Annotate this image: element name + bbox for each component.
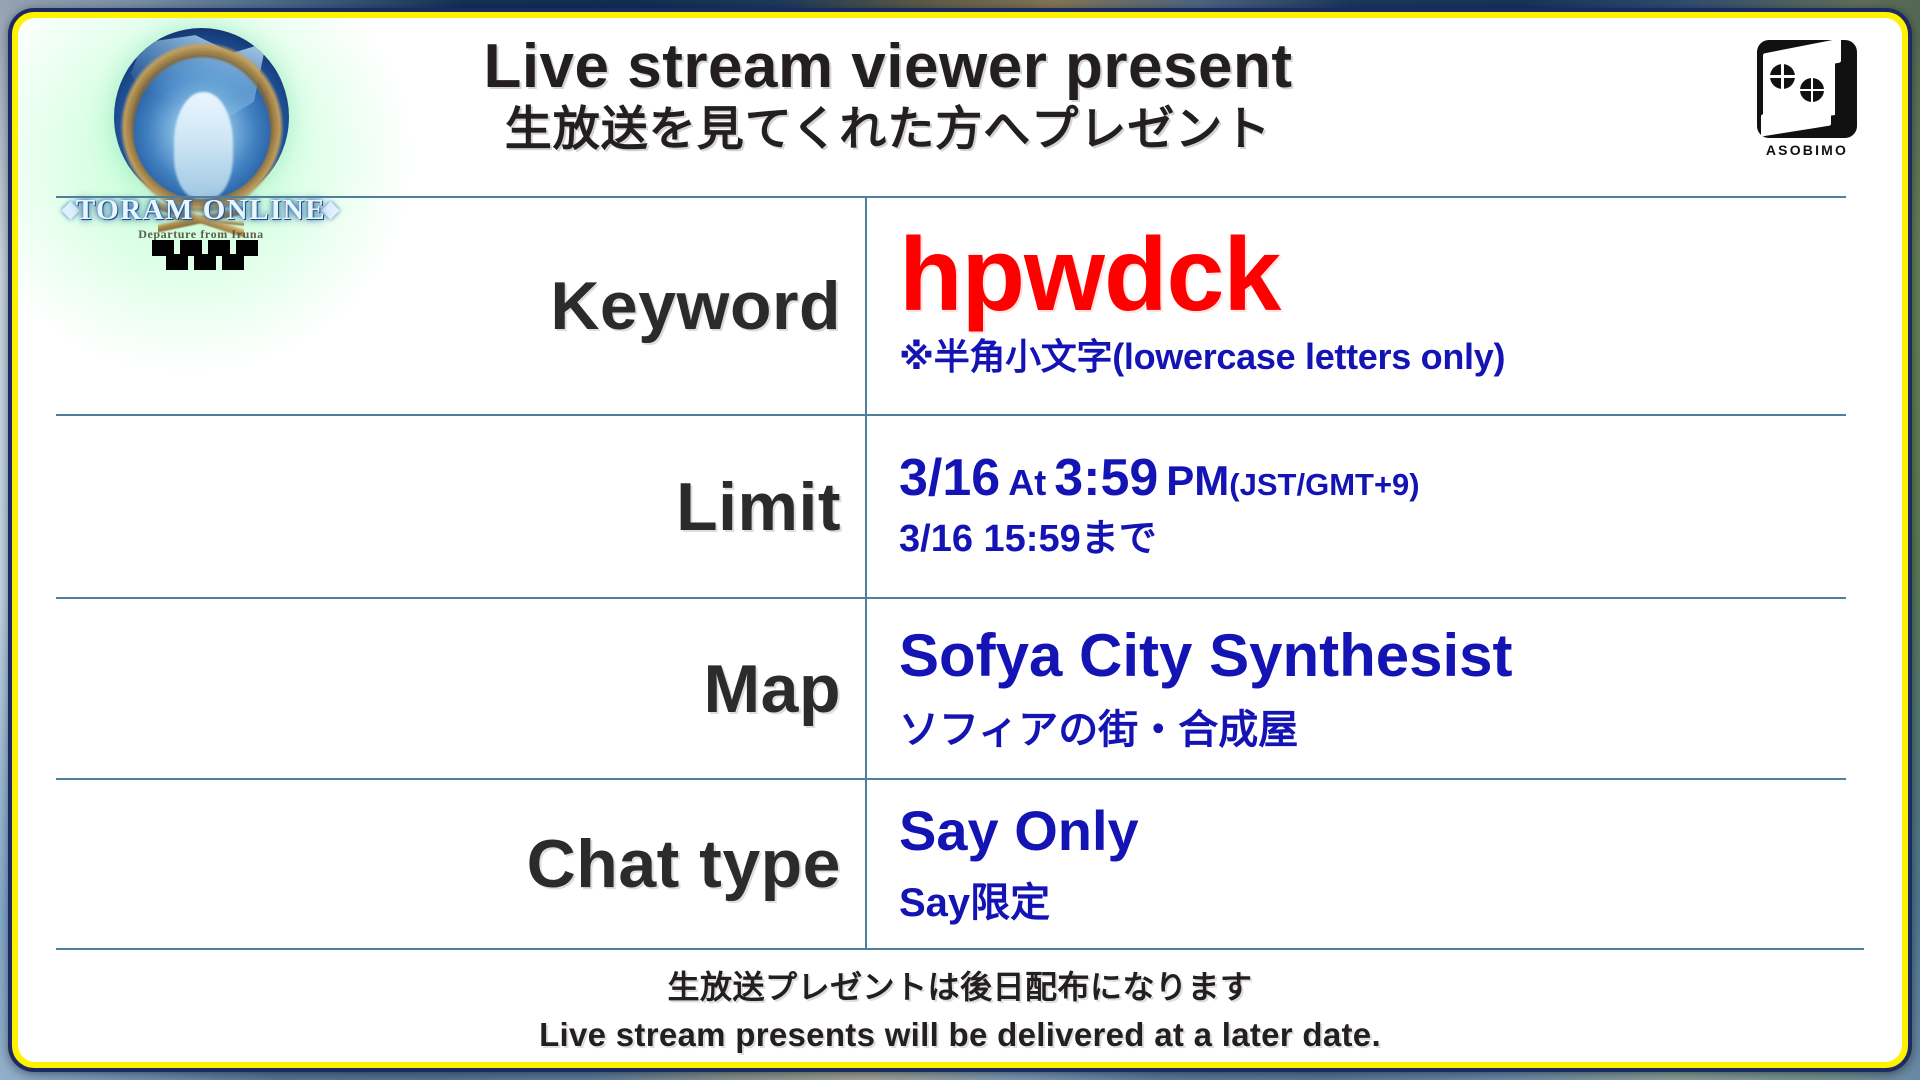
header: Live stream viewer present 生放送を見てくれた方へプレ… bbox=[18, 18, 1902, 196]
row-label-keyword: Keyword bbox=[550, 267, 841, 345]
limit-at: At bbox=[1000, 462, 1054, 503]
row-value-cell: Say Only Say限定 bbox=[867, 780, 1846, 948]
footer-note: 生放送プレゼントは後日配布になります Live stream presents … bbox=[56, 948, 1864, 1054]
chat-type-value-ja: Say限定 bbox=[899, 870, 1846, 928]
limit-timezone: (JST/GMT+9) bbox=[1229, 467, 1419, 502]
row-label-cell: Chat type bbox=[56, 780, 867, 948]
row-label-cell: Map bbox=[56, 599, 867, 778]
limit-meridiem: PM bbox=[1158, 457, 1229, 504]
row-label-limit: Limit bbox=[676, 468, 841, 546]
keyword-note: ※半角小文字(lowercase letters only) bbox=[899, 328, 1846, 380]
row-label-map: Map bbox=[704, 650, 842, 728]
footer-note-en: Live stream presents will be delivered a… bbox=[56, 1016, 1864, 1054]
keyword-value: hpwdck bbox=[899, 226, 1846, 325]
announcement-card: TORAM ONLINE Departure from Iruna Live s… bbox=[8, 8, 1912, 1072]
card-yellow-border: TORAM ONLINE Departure from Iruna Live s… bbox=[12, 12, 1908, 1068]
page-title-en: Live stream viewer present bbox=[348, 34, 1428, 101]
row-label-cell: Limit bbox=[56, 416, 867, 597]
limit-time: 3:59 bbox=[1054, 449, 1158, 507]
title-block: Live stream viewer present 生放送を見てくれた方へプレ… bbox=[348, 34, 1428, 155]
row-value-cell: Sofya City Synthesist ソフィアの街・合成屋 bbox=[867, 599, 1846, 778]
page-title-ja: 生放送を見てくれた方へプレゼント bbox=[348, 103, 1428, 155]
footer-note-ja: 生放送プレゼントは後日配布になります bbox=[56, 962, 1864, 1008]
asobimo-crosshair-icon bbox=[1800, 78, 1824, 102]
table-row-map: Map Sofya City Synthesist ソフィアの街・合成屋 bbox=[56, 597, 1846, 778]
table-row-limit: Limit 3/16At3:59PM(JST/GMT+9) 3/16 15:59… bbox=[56, 414, 1846, 597]
chat-type-value-en: Say Only bbox=[899, 800, 1846, 862]
table-row-chat-type: Chat type Say Only Say限定 bbox=[56, 778, 1846, 948]
map-value-ja: ソフィアの街・合成屋 bbox=[899, 697, 1846, 755]
asobimo-logo: ASOBIMO bbox=[1748, 40, 1866, 168]
row-label-cell: Keyword bbox=[56, 198, 867, 414]
card-surface: TORAM ONLINE Departure from Iruna Live s… bbox=[18, 18, 1902, 1062]
limit-value-ja: 3/16 15:59まで bbox=[899, 507, 1846, 562]
asobimo-wordmark: ASOBIMO bbox=[1748, 142, 1866, 158]
asobimo-crosshair-icon bbox=[1770, 64, 1795, 89]
table-row-keyword: Keyword hpwdck ※半角小文字(lowercase letters … bbox=[56, 196, 1846, 414]
asobimo-mark-icon bbox=[1757, 40, 1857, 138]
limit-value-en: 3/16At3:59PM(JST/GMT+9) bbox=[899, 451, 1846, 506]
row-value-cell: 3/16At3:59PM(JST/GMT+9) 3/16 15:59まで bbox=[867, 416, 1846, 597]
details-table: Keyword hpwdck ※半角小文字(lowercase letters … bbox=[56, 196, 1846, 948]
limit-date: 3/16 bbox=[899, 449, 1000, 507]
row-value-cell: hpwdck ※半角小文字(lowercase letters only) bbox=[867, 198, 1846, 414]
map-value-en: Sofya City Synthesist bbox=[899, 623, 1846, 689]
row-label-chat-type: Chat type bbox=[527, 825, 841, 903]
